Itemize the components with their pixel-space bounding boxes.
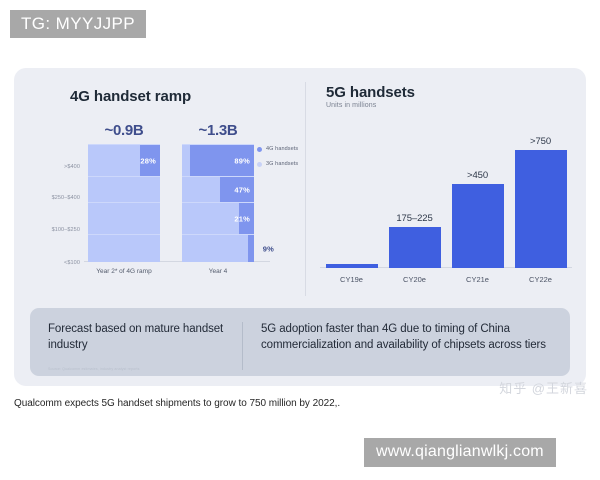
bar-rect-cy19e (326, 264, 378, 268)
page-caption: Qualcomm expects 5G handset shipments to… (14, 398, 340, 409)
right-chart-bars: CY19e 175–225 CY20e >450 CY21e >750 (320, 128, 572, 268)
right-chart-plot-area: CY19e 175–225 CY20e >450 CY21e >750 (320, 120, 572, 290)
bar-group-year4-total: ~1.3B (182, 122, 254, 139)
legend-item-3g[interactable]: 3G handsets (257, 161, 298, 167)
telegram-watermark: TG: MYYJJPP (10, 10, 146, 38)
bar-group-year2-label: Year 2* of 4G ramp (96, 268, 151, 275)
tier-4g-fill-250-400-y4: 47% (220, 177, 254, 202)
tier-pct-label-47: 47% (234, 185, 250, 194)
zhihu-watermark: 知乎 @王新喜 (499, 378, 588, 397)
tier-segment-under-100 (88, 234, 160, 262)
source-footnote: Source: Qualcomm estimates, industry ana… (48, 367, 139, 371)
left-chart-legend: 4G handsets 3G handsets (257, 146, 298, 176)
tier-pct-label-9: 9% (263, 244, 274, 253)
legend-swatch-3g-icon (257, 162, 262, 167)
tier-4g-fill-under-100-y4: 9% (248, 235, 254, 262)
left-chart-plot-area: ~0.9B 28% Year 2* of 4G ramp ~1.3B (84, 120, 264, 282)
legend-item-4g[interactable]: 4G handsets (257, 146, 298, 152)
tier-label-100-250: $100–$250 (52, 227, 80, 233)
right-chart-title: 5G handsets (326, 84, 415, 101)
takeaway-left-column: Forecast based on mature handset industr… (30, 321, 242, 354)
tier-pct-label-28: 28% (140, 156, 156, 165)
tier-label-over-400: >$400 (64, 164, 80, 170)
tier-pct-label-21: 21% (234, 214, 250, 223)
tier-segment-under-100-y4: 9% (182, 234, 254, 262)
tier-label-under-100: <$100 (64, 260, 80, 266)
bar-category-cy19e: CY19e (340, 275, 363, 284)
bar-category-cy20e: CY20e (403, 275, 426, 284)
tier-label-250-400: $250–$400 (52, 195, 80, 201)
tier-pct-label-89: 89% (234, 156, 250, 165)
left-chart-panel: 4G handset ramp >$400 $250–$400 $100–$25… (14, 68, 305, 306)
right-chart-panel: 5G handsets Units in millions CY19e 175–… (306, 68, 586, 306)
bar-group-year2-total: ~0.9B (88, 122, 160, 139)
takeaway-left-text: Forecast based on mature handset industr… (48, 321, 228, 354)
bar-column-cy21e[interactable]: >450 CY21e (452, 128, 504, 268)
bar-rect-cy21e (452, 184, 504, 268)
tier-segment-250-400-y4: 47% (182, 176, 254, 202)
bar-column-cy22e[interactable]: >750 CY22e (515, 128, 567, 268)
url-watermark: www.qianglianwlkj.com (364, 438, 556, 467)
left-chart-title: 4G handset ramp (70, 88, 191, 105)
tier-segment-100-250-y4: 21% (182, 202, 254, 234)
tier-4g-fill-over-400: 28% (140, 145, 160, 176)
bar-rect-cy22e (515, 150, 567, 268)
bar-rect-cy20e (389, 227, 441, 268)
slide-card: 4G handset ramp >$400 $250–$400 $100–$25… (14, 68, 586, 386)
bar-group-year2[interactable]: ~0.9B 28% Year 2* of 4G ramp (88, 144, 160, 262)
bar-column-cy19e[interactable]: CY19e (326, 128, 378, 268)
legend-swatch-4g-icon (257, 147, 262, 152)
right-chart-subtitle: Units in millions (326, 102, 376, 109)
bar-group-year4-label: Year 4 (209, 268, 228, 275)
tier-segment-100-250 (88, 202, 160, 234)
bar-value-cy21e: >450 (467, 170, 488, 181)
legend-label-4g: 4G handsets (266, 146, 298, 152)
bar-group-year4[interactable]: ~1.3B 89% 47% 21% (182, 144, 254, 262)
bar-value-cy20e: 175–225 (396, 213, 432, 224)
tier-4g-fill-100-250-y4: 21% (239, 203, 254, 234)
bar-value-cy22e: >750 (530, 136, 551, 147)
takeaway-right-column: 5G adoption faster than 4G due to timing… (243, 321, 570, 354)
takeaway-right-text: 5G adoption faster than 4G due to timing… (261, 321, 556, 354)
bar-category-cy22e: CY22e (529, 275, 552, 284)
legend-label-3g: 3G handsets (266, 161, 298, 167)
tier-segment-over-400-y4: 89% (182, 144, 254, 176)
tier-segment-250-400 (88, 176, 160, 202)
bar-category-cy21e: CY21e (466, 275, 489, 284)
tier-axis-labels: >$400 $250–$400 $100–$250 <$100 (30, 150, 80, 270)
charts-row: 4G handset ramp >$400 $250–$400 $100–$25… (14, 68, 586, 306)
tier-4g-fill-over-400-y4: 89% (190, 145, 254, 176)
tier-segment-over-400: 28% (88, 144, 160, 176)
takeaway-banner: Forecast based on mature handset industr… (30, 308, 570, 376)
bar-column-cy20e[interactable]: 175–225 CY20e (389, 128, 441, 268)
